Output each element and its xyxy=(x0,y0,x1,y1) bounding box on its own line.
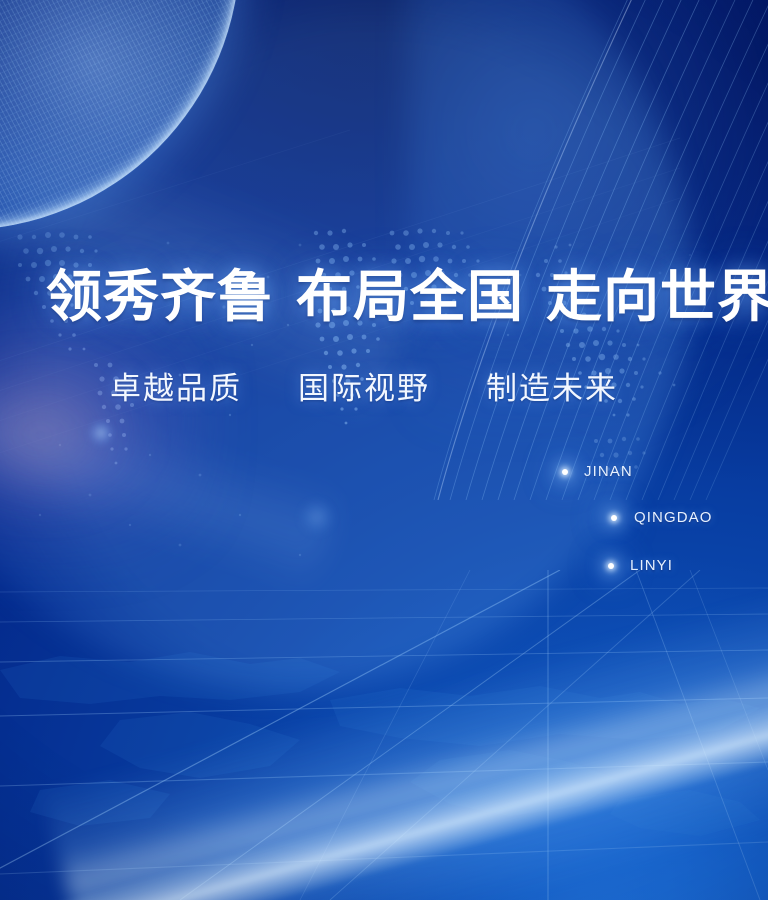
subheadline-part-3: 制造未来 xyxy=(486,371,618,407)
subheadline-part-2: 国际视野 xyxy=(298,371,430,407)
banner-stage: 领秀齐鲁布局全国走向世界 卓越品质国际视野制造未来 JINAN QINGDAO … xyxy=(0,0,768,900)
city-dot-icon xyxy=(562,469,568,475)
city-label-linyi: LINYI xyxy=(630,557,673,574)
city-dot-icon xyxy=(611,515,617,521)
city-marker-qingdao[interactable]: QINGDAO xyxy=(611,509,713,526)
subheadline: 卓越品质国际视野制造未来 xyxy=(110,370,618,408)
city-label-jinan: JINAN xyxy=(584,463,633,480)
headline-part-3: 走向世界 xyxy=(546,264,768,330)
headline: 领秀齐鲁布局全国走向世界 xyxy=(46,266,768,328)
headline-part-1: 领秀齐鲁 xyxy=(46,264,274,330)
headline-part-2: 布局全国 xyxy=(296,264,524,330)
city-dot-icon xyxy=(608,563,614,569)
city-marker-jinan[interactable]: JINAN xyxy=(562,463,633,480)
subheadline-part-1: 卓越品质 xyxy=(110,371,242,407)
city-marker-linyi[interactable]: LINYI xyxy=(608,557,673,574)
banner-content: 领秀齐鲁布局全国走向世界 卓越品质国际视野制造未来 JINAN QINGDAO … xyxy=(0,0,768,900)
city-label-qingdao: QINGDAO xyxy=(634,509,713,526)
